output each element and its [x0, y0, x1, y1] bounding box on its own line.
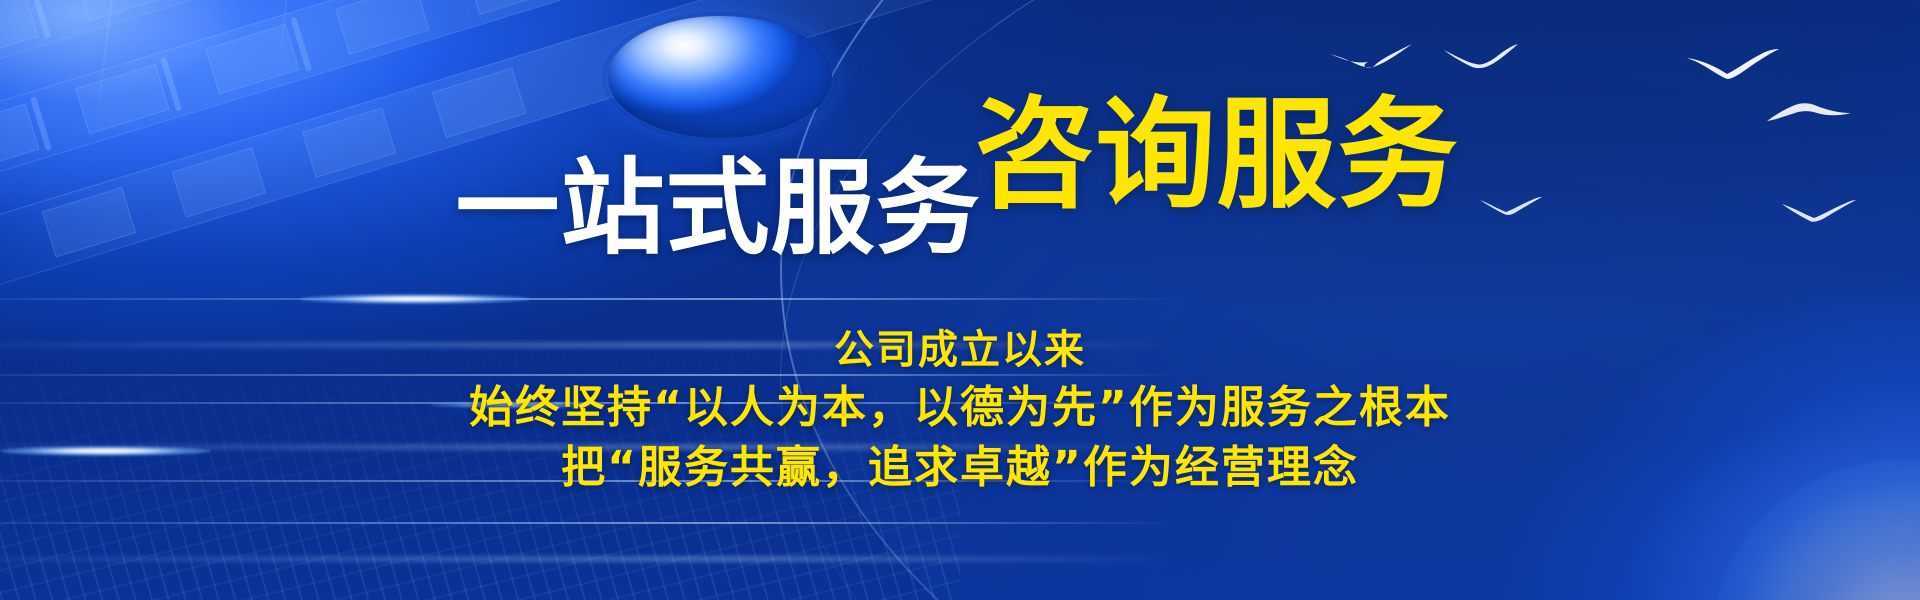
light-streak — [0, 298, 1180, 300]
lens-flare — [300, 294, 530, 304]
seagull-icon — [1442, 42, 1520, 72]
seagull-icon — [1685, 48, 1781, 82]
headline-primary: 一站式服务 — [455, 156, 980, 260]
light-streak — [0, 522, 1180, 524]
body-line-2: 始终坚持“以人为本，以德为先”作为服务之根本 — [0, 378, 1920, 438]
seagull-icon — [1478, 196, 1544, 218]
body-copy-group: 公司成立以来 始终坚持“以人为本，以德为先”作为服务之根本 把“服务共赢，追求卓… — [0, 322, 1920, 498]
body-line-1: 公司成立以来 — [0, 322, 1920, 378]
headline-group: 一站式服务 咨询服务 — [0, 78, 1920, 198]
seagull-icon — [1780, 198, 1858, 224]
light-streak — [0, 556, 1180, 562]
headline-accent: 咨询服务 — [975, 96, 1459, 216]
seagull-icon — [1328, 40, 1414, 72]
body-line-3: 把“服务共赢，追求卓越”作为经营理念 — [0, 438, 1920, 498]
promo-banner: 一站式服务 咨询服务 公司成立以来 始终坚持“以人为本，以德为先”作为服务之根本… — [0, 0, 1920, 600]
